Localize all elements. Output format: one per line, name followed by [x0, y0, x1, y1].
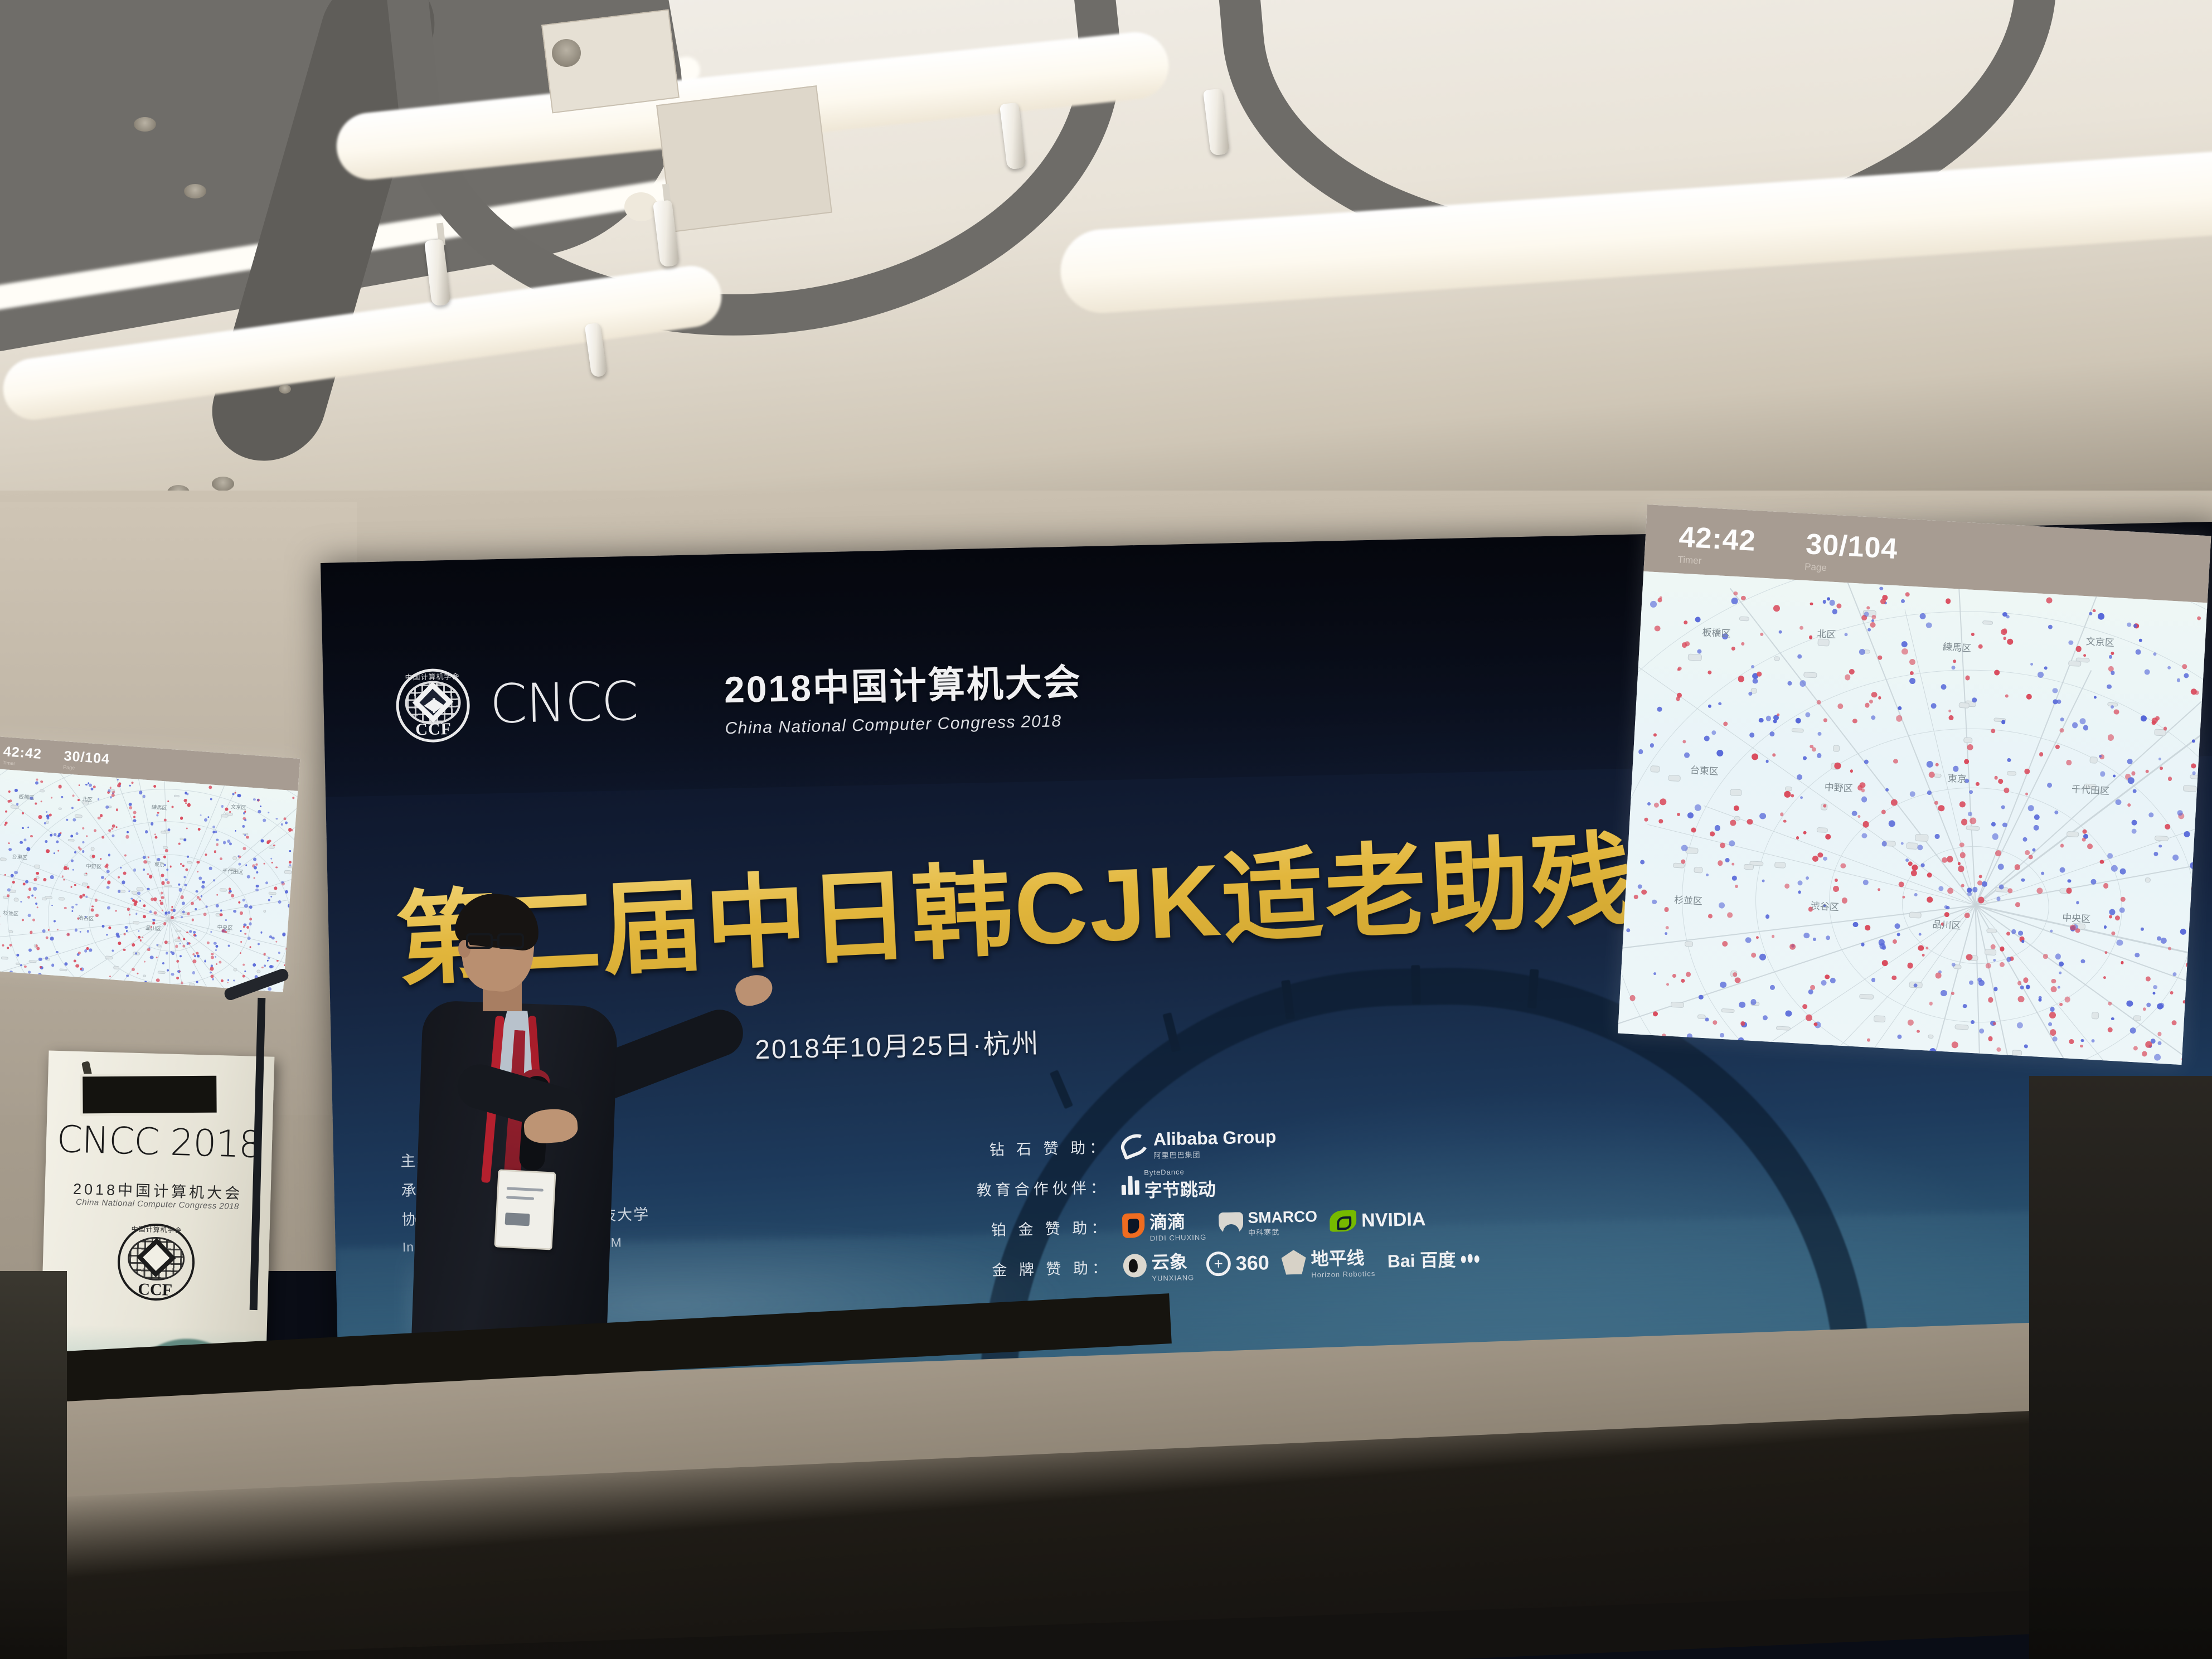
map-data-point	[229, 891, 231, 894]
map-station-marker	[1963, 738, 1972, 744]
slide-map: 板橋区北区練馬区文京区台東区中野区東京千代田区杉並区渋谷区品川区中央区	[1618, 571, 2208, 1065]
map-data-point	[1784, 791, 1791, 798]
map-station-marker	[2183, 785, 2197, 792]
map-label: 北区	[1817, 626, 1836, 641]
map-data-point	[216, 843, 219, 846]
map-data-point	[231, 894, 234, 898]
map-station-marker	[13, 898, 19, 901]
map-data-point	[1926, 622, 1932, 628]
map-data-point	[2182, 664, 2187, 670]
map-data-point	[36, 947, 40, 950]
map-data-point	[1732, 876, 1737, 881]
map-station-marker	[1744, 864, 1754, 870]
map-data-point	[1852, 921, 1858, 927]
map-data-point	[2087, 843, 2093, 849]
map-station-marker	[1817, 827, 1828, 833]
map-data-point	[2191, 739, 2195, 743]
map-data-point	[2007, 758, 2011, 762]
map-data-point	[1731, 647, 1735, 651]
map-data-point	[2024, 1044, 2028, 1048]
map-station-marker	[143, 975, 146, 977]
map-data-point	[1641, 889, 1647, 895]
map-data-point	[163, 855, 166, 858]
map-data-point	[213, 879, 215, 881]
map-station-marker	[105, 956, 113, 959]
map-data-point	[2025, 850, 2030, 855]
map-data-point	[240, 911, 243, 915]
sponsor-subname: DIDI CHUXING	[1150, 1233, 1207, 1242]
map-data-point	[2127, 803, 2131, 807]
map-data-point	[128, 890, 130, 892]
map-data-point	[126, 930, 128, 932]
map-data-point	[1834, 763, 1841, 769]
map-data-point	[178, 888, 182, 892]
map-data-point	[101, 876, 104, 879]
map-data-point	[276, 960, 279, 962]
map-data-point	[2141, 928, 2144, 931]
map-label: 文京区	[2085, 633, 2114, 649]
map-station-marker	[1774, 656, 1781, 661]
page-display: 30/104 Page	[1804, 530, 1899, 578]
map-data-point	[126, 974, 129, 977]
sponsor-logo-yunxiang: 云象 YUNXIANG	[1123, 1248, 1194, 1283]
map-label: 東京	[154, 860, 165, 868]
map-data-point	[175, 945, 178, 948]
map-data-point	[243, 812, 245, 814]
map-station-marker	[1966, 826, 1980, 831]
map-data-point	[210, 972, 212, 974]
map-data-point	[1864, 759, 1869, 764]
map-data-point	[216, 904, 219, 908]
map-data-point	[1971, 633, 1975, 636]
map-data-point	[201, 885, 205, 889]
map-label: 杉並区	[1673, 892, 1702, 908]
map-data-point	[8, 790, 11, 793]
map-data-point	[1998, 779, 2003, 784]
map-data-point	[64, 866, 67, 870]
map-station-marker	[1982, 620, 1993, 625]
sponsor-block: 钻 石 赞 助： Alibaba Group 阿里巴巴集团 教育合作伙伴： By…	[968, 1118, 1479, 1289]
map-data-point	[56, 840, 59, 843]
map-data-point	[1677, 813, 1680, 816]
map-data-point	[135, 913, 137, 915]
map-data-point	[4, 823, 6, 826]
map-data-point	[83, 841, 85, 843]
map-data-point	[53, 920, 55, 922]
map-data-point	[1791, 794, 1794, 797]
map-data-point	[20, 841, 23, 844]
map-data-point	[1951, 666, 1955, 670]
map-data-point	[112, 835, 115, 837]
didi-icon	[1122, 1213, 1145, 1238]
right-dark-edge	[2029, 1076, 2212, 1659]
map-data-point	[1731, 598, 1738, 604]
smarco-icon	[1218, 1212, 1243, 1235]
map-data-point	[1798, 890, 1801, 894]
map-data-point	[1708, 914, 1713, 918]
map-station-marker	[1860, 993, 1874, 1000]
sponsor-subname: YUNXIANG	[1152, 1273, 1194, 1283]
map-data-point	[1938, 804, 1944, 811]
map-data-point	[1946, 906, 1950, 910]
page-display: 30/104 Page	[63, 749, 110, 773]
map-data-point	[1890, 799, 1898, 806]
map-data-point	[139, 939, 141, 941]
map-data-point	[207, 942, 210, 944]
map-data-point	[1928, 772, 1935, 778]
map-station-marker	[2155, 836, 2169, 841]
map-data-point	[43, 878, 46, 881]
sponsor-logo-bytedance: ByteDance 字节跳动	[1121, 1167, 1216, 1203]
map-station-marker	[1671, 1001, 1685, 1007]
map-data-point	[50, 937, 54, 941]
page-value: 30/104	[64, 749, 110, 767]
map-data-point	[2075, 928, 2080, 933]
map-data-point	[1741, 1021, 1745, 1026]
map-data-point	[1861, 943, 1865, 947]
map-data-point	[2107, 853, 2113, 858]
map-data-point	[101, 836, 104, 838]
map-data-point	[2059, 971, 2061, 974]
map-data-point	[1813, 938, 1816, 941]
map-data-point	[244, 904, 248, 908]
map-data-point	[57, 850, 59, 851]
map-data-point	[28, 971, 30, 973]
map-data-point	[187, 803, 191, 807]
map-data-point	[2048, 1022, 2052, 1026]
map-station-marker	[2007, 771, 2016, 776]
map-data-point	[2082, 837, 2086, 841]
map-station-marker	[1791, 728, 1803, 733]
sponsor-name: SMARCO	[1248, 1207, 1317, 1226]
map-data-point	[2157, 936, 2161, 940]
map-data-point	[74, 851, 76, 853]
map-data-point	[1691, 827, 1696, 832]
map-data-point	[232, 793, 234, 795]
map-data-point	[1757, 671, 1762, 676]
map-data-point	[165, 879, 168, 881]
ceiling-access-panel	[656, 85, 832, 232]
map-data-point	[1994, 776, 1998, 780]
map-data-point	[225, 919, 226, 921]
map-data-point	[1708, 704, 1711, 707]
map-station-marker	[1721, 1008, 1735, 1013]
bytedance-icon	[1121, 1176, 1139, 1195]
map-data-point	[130, 898, 133, 900]
map-data-point	[33, 887, 37, 891]
map-data-point	[1927, 790, 1932, 795]
map-data-point	[2103, 976, 2106, 979]
ceiling-speaker	[552, 39, 581, 67]
map-station-marker	[75, 814, 83, 818]
map-data-point	[187, 793, 189, 795]
map-data-point	[157, 812, 159, 814]
map-data-point	[2120, 868, 2126, 874]
map-data-point	[2164, 727, 2167, 731]
map-data-point	[1756, 936, 1759, 939]
map-data-point	[2121, 961, 2124, 964]
map-station-marker	[1959, 702, 1970, 709]
map-data-point	[212, 826, 215, 828]
map-data-point	[153, 919, 156, 921]
sponsor-tier-label: 钻 石 赞 助：	[969, 1135, 1109, 1160]
map-data-point	[196, 860, 200, 864]
map-data-point	[7, 947, 9, 949]
map-data-point	[8, 848, 12, 851]
ccf-logo-bottom-text: CCF	[117, 1279, 194, 1301]
map-data-point	[1977, 977, 1982, 982]
map-data-point	[244, 971, 246, 972]
map-data-point	[1666, 926, 1669, 929]
map-data-point	[1765, 760, 1769, 763]
map-data-point	[1982, 881, 1987, 887]
map-data-point	[1796, 836, 1799, 840]
map-data-point	[85, 895, 88, 898]
map-data-point	[108, 854, 111, 857]
map-data-point	[1765, 914, 1769, 919]
map-data-point	[156, 814, 158, 817]
map-label: 中央区	[217, 923, 233, 932]
left-dark-edge	[0, 1271, 67, 1659]
map-label: 品川区	[1932, 916, 1961, 932]
sponsor-logo-nvidia: NVIDIA	[1330, 1209, 1426, 1233]
map-data-point	[270, 858, 272, 860]
slide-map: 板橋区北区練馬区文京区台東区中野区東京千代田区杉並区渋谷区品川区中央区	[0, 768, 298, 992]
map-data-point	[111, 949, 114, 952]
map-data-point	[1930, 703, 1937, 709]
map-label: 台東区	[1690, 762, 1719, 778]
map-data-point	[1867, 628, 1871, 631]
map-data-point	[1699, 995, 1704, 1000]
map-data-point	[1972, 697, 1977, 702]
map-station-marker	[284, 870, 292, 874]
map-data-point	[120, 867, 122, 869]
map-data-point	[1947, 887, 1953, 894]
map-station-marker	[161, 831, 167, 834]
map-data-point	[2145, 1041, 2152, 1048]
map-data-point	[16, 954, 19, 957]
map-data-point	[1823, 857, 1827, 861]
map-station-marker	[39, 789, 45, 792]
map-data-point	[180, 895, 184, 899]
sponsor-tier-label: 铂 金 赞 助：	[971, 1215, 1110, 1240]
map-data-point	[227, 979, 229, 981]
map-data-point	[242, 974, 245, 977]
map-data-point	[2016, 1022, 2022, 1028]
map-data-point	[2157, 1031, 2162, 1036]
map-data-point	[1805, 712, 1811, 717]
backdrop-header: 中国计算机学会 CCF CNCC 2018中国计算机大会 China Natio…	[395, 652, 1083, 745]
map-data-point	[147, 873, 149, 875]
map-data-point	[257, 799, 259, 801]
map-data-point	[209, 867, 212, 870]
map-data-point	[255, 888, 259, 891]
map-data-point	[1833, 886, 1839, 892]
map-data-point	[22, 827, 23, 829]
map-station-marker	[2089, 756, 2098, 764]
map-data-point	[2154, 1054, 2161, 1061]
map-data-point	[1647, 802, 1651, 806]
nvidia-icon	[1330, 1210, 1357, 1232]
map-station-marker	[1907, 842, 1918, 850]
sponsor-subname: 中科寒武	[1248, 1225, 1318, 1238]
map-label: 中野区	[86, 862, 102, 871]
map-data-point	[2117, 939, 2123, 946]
map-data-point	[80, 968, 82, 970]
sponsor-logo-alibaba: Alibaba Group 阿里巴巴集团	[1120, 1127, 1277, 1161]
map-data-point	[1784, 883, 1789, 888]
presenter-badge	[494, 1169, 556, 1250]
sponsor-name: 云象	[1151, 1251, 1187, 1272]
map-data-point	[292, 797, 294, 799]
map-data-point	[24, 838, 27, 841]
map-data-point	[192, 959, 196, 963]
map-label: 杉並区	[3, 909, 19, 918]
sponsor-logo-horizon: 地平线 Horizon Robotics	[1281, 1244, 1375, 1280]
map-data-point	[79, 847, 82, 850]
map-data-point	[118, 890, 121, 893]
map-station-marker	[1985, 949, 1996, 955]
map-data-point	[2006, 615, 2009, 618]
map-data-point	[98, 798, 99, 800]
map-data-point	[2049, 1012, 2056, 1018]
map-data-point	[161, 896, 164, 899]
map-station-marker	[1986, 928, 1997, 933]
map-data-point	[216, 838, 219, 841]
map-data-point	[204, 960, 206, 962]
map-data-point	[237, 794, 241, 798]
map-data-point	[2080, 1045, 2083, 1048]
sponsor-name: 地平线	[1311, 1248, 1365, 1269]
map-data-point	[255, 884, 259, 887]
map-data-point	[1862, 821, 1869, 828]
map-data-point	[1684, 620, 1687, 624]
ceiling-downlight	[134, 117, 156, 132]
map-data-point	[1865, 925, 1870, 930]
map-data-point	[185, 884, 187, 886]
sponsor-name: 360	[1235, 1251, 1269, 1275]
map-label: 千代田区	[2071, 782, 2109, 798]
map-data-point	[195, 908, 197, 910]
map-data-point	[249, 946, 251, 948]
map-data-point	[167, 800, 169, 802]
map-data-point	[2034, 814, 2040, 819]
timer-display: 42:42 Timer	[2, 745, 42, 768]
map-data-point	[1830, 978, 1836, 983]
map-data-point	[206, 906, 208, 908]
map-data-point	[58, 785, 62, 789]
map-data-point	[1935, 972, 1941, 978]
page-value: 30/104	[1805, 530, 1899, 564]
map-data-point	[139, 790, 143, 794]
map-data-point	[1818, 852, 1823, 858]
map-ring-road	[1618, 571, 2208, 1065]
map-data-point	[183, 876, 186, 878]
map-data-point	[1851, 811, 1857, 816]
map-data-point	[1759, 813, 1766, 819]
map-station-marker	[1739, 617, 1749, 622]
map-data-point	[2043, 954, 2048, 959]
map-data-point	[171, 906, 173, 908]
map-data-point	[150, 955, 154, 959]
congress-title-cn: 2018中国计算机大会	[724, 652, 1083, 714]
map-data-point	[1803, 932, 1810, 938]
map-data-point	[91, 905, 94, 908]
sponsor-name: Alibaba Group	[1153, 1127, 1277, 1149]
map-data-point	[180, 817, 183, 820]
map-data-point	[143, 860, 147, 864]
map-station-marker	[1954, 1024, 1969, 1030]
map-station-marker	[1928, 1034, 1934, 1039]
map-data-point	[27, 847, 31, 851]
map-data-point	[2067, 879, 2071, 883]
map-data-point	[214, 831, 217, 833]
map-data-point	[196, 952, 198, 954]
map-station-marker	[1934, 773, 1942, 778]
map-label: 渋谷区	[1810, 898, 1839, 913]
map-data-point	[1935, 763, 1939, 767]
map-data-point	[1654, 625, 1660, 632]
map-data-point	[2060, 844, 2064, 848]
map-data-point	[266, 841, 269, 844]
map-data-point	[2083, 829, 2087, 833]
map-data-point	[9, 944, 12, 947]
map-data-point	[1714, 825, 1720, 831]
map-data-point	[1896, 933, 1900, 937]
map-data-point	[260, 932, 262, 933]
map-data-point	[289, 861, 292, 864]
sponsor-name: 滴滴	[1149, 1211, 1186, 1232]
map-data-point	[202, 880, 205, 884]
map-data-point	[1685, 972, 1690, 977]
map-data-point	[1991, 822, 1996, 826]
map-data-point	[1799, 680, 1806, 687]
map-data-point	[1806, 1014, 1812, 1021]
map-station-marker	[221, 814, 228, 817]
map-data-point	[227, 840, 230, 843]
map-data-point	[268, 957, 270, 959]
map-data-point	[204, 818, 207, 822]
map-data-point	[1918, 945, 1924, 951]
map-data-point	[1841, 898, 1847, 904]
map-data-point	[1976, 782, 1980, 785]
map-data-point	[211, 953, 214, 955]
map-data-point	[1730, 819, 1736, 826]
map-data-point	[210, 967, 214, 971]
ccf-logo-icon: 中国计算机学会 CCF	[117, 1223, 196, 1302]
map-data-point	[1893, 759, 1898, 764]
map-station-marker	[1730, 789, 1742, 796]
map-data-point	[1882, 960, 1888, 966]
map-data-point	[1994, 670, 2000, 675]
map-data-point	[1810, 602, 1813, 605]
map-data-point	[2177, 810, 2183, 816]
map-station-marker	[34, 865, 41, 869]
map-data-point	[214, 851, 216, 853]
ceiling-downlight	[212, 477, 234, 491]
map-data-point	[1770, 985, 1775, 990]
map-data-point	[2153, 852, 2158, 856]
map-data-point	[2038, 672, 2044, 678]
map-data-point	[74, 884, 76, 886]
map-data-point	[1705, 1017, 1709, 1021]
map-data-point	[270, 965, 274, 968]
map-data-point	[165, 913, 168, 916]
sponsor-name: NVIDIA	[1361, 1209, 1426, 1232]
map-data-point	[2112, 932, 2116, 935]
map-data-point	[233, 909, 236, 913]
map-data-point	[117, 784, 120, 787]
